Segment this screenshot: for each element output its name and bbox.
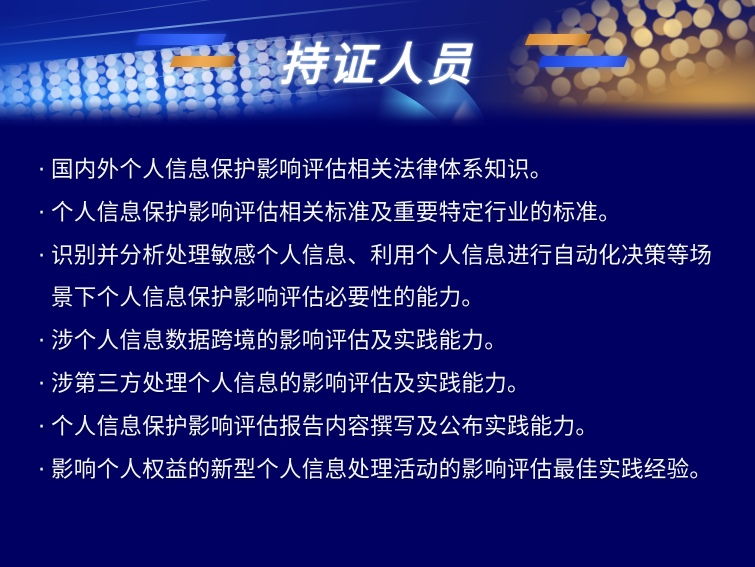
requirement-list: 国内外个人信息保护影响评估相关法律体系知识。 个人信息保护影响评估相关标准及重要… <box>38 149 721 491</box>
list-item: 个人信息保护影响评估相关标准及重要特定行业的标准。 <box>38 192 721 234</box>
content-area: 国内外个人信息保护影响评估相关法律体系知识。 个人信息保护影响评估相关标准及重要… <box>0 127 755 567</box>
page-title: 持证人员 <box>0 0 755 127</box>
page-title-text: 持证人员 <box>279 28 475 93</box>
list-item: 个人信息保护影响评估报告内容撰写及公布实践能力。 <box>38 406 721 448</box>
header-banner: 持证人员 <box>0 0 755 127</box>
list-item: 国内外个人信息保护影响评估相关法律体系知识。 <box>38 149 721 191</box>
list-item: 影响个人权益的新型个人信息处理活动的影响评估最佳实践经验。 <box>38 449 721 491</box>
list-item: 识别并分析处理敏感个人信息、利用个人信息进行自动化决策等场景下个人信息保护影响评… <box>38 235 721 319</box>
slide-root: 持证人员 国内外个人信息保护影响评估相关法律体系知识。 个人信息保护影响评估相关… <box>0 0 755 567</box>
list-item: 涉第三方处理个人信息的影响评估及实践能力。 <box>38 363 721 405</box>
list-item: 涉个人信息数据跨境的影响评估及实践能力。 <box>38 320 721 362</box>
